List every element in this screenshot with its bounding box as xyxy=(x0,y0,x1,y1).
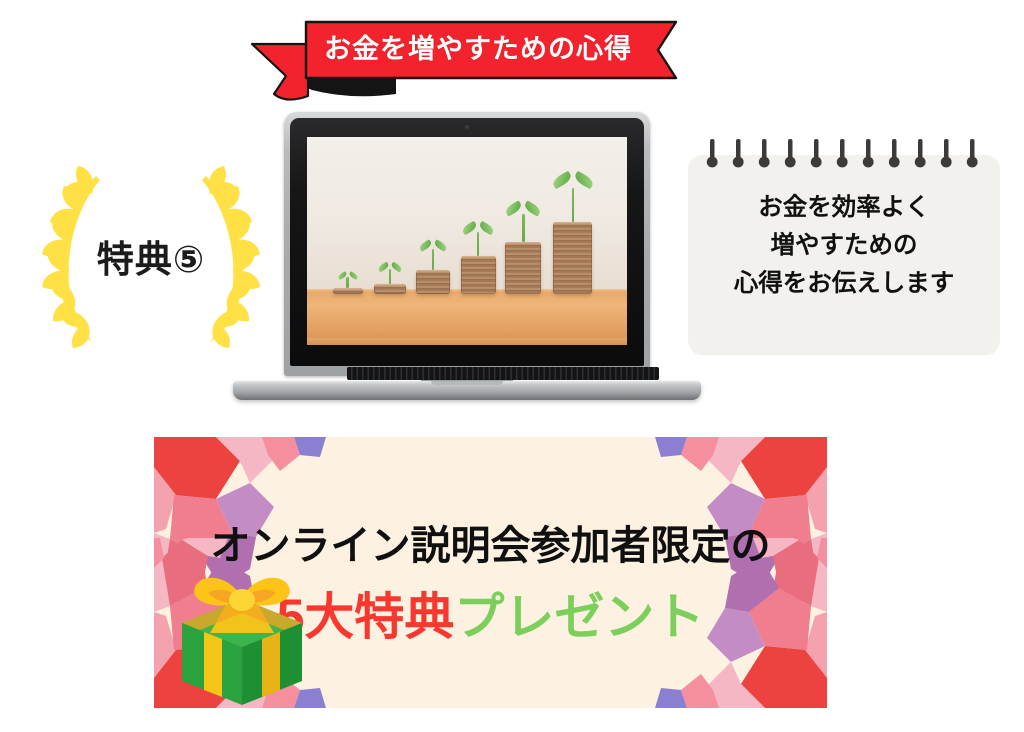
coin-stack-4 xyxy=(461,256,496,294)
ribbon-banner: お金を増やすための心得 xyxy=(246,14,676,98)
coin-stack-6 xyxy=(553,222,592,294)
sprout-1 xyxy=(338,272,358,288)
memo-body: お金を効率よく 増やすための 心得をお伝えします xyxy=(688,189,1000,303)
spiral-pins-icon xyxy=(688,139,1000,171)
laptop-keyboard xyxy=(347,367,659,380)
coin-stack-1 xyxy=(333,288,363,294)
sprout-5 xyxy=(505,202,541,242)
memo-card: お金を効率よく 増やすための 心得をお伝えします xyxy=(688,155,1000,355)
coin-stack-3 xyxy=(416,270,450,294)
memo-line-3: 心得をお伝えします xyxy=(688,265,1000,303)
laptop-lid xyxy=(284,112,650,376)
sprout-2 xyxy=(378,262,402,284)
slide-canvas: お金を増やすための心得 xyxy=(0,0,1024,732)
sprout-3 xyxy=(419,240,447,270)
laptop-bezel xyxy=(290,118,644,366)
memo-line-1: お金を効率よく xyxy=(688,189,1000,227)
sprout-6 xyxy=(552,172,594,222)
webcam-icon xyxy=(465,125,469,129)
coin-stack-2 xyxy=(374,284,406,294)
present-banner-green-text: プレゼント xyxy=(454,589,704,645)
laptop-base xyxy=(233,366,701,400)
memo-line-2: 増やすための xyxy=(688,227,1000,265)
desk-reflection xyxy=(307,338,627,345)
coin-stack-5 xyxy=(505,242,541,294)
coins-growth-photo xyxy=(307,137,627,345)
sprout-4 xyxy=(462,222,494,256)
ribbon-shape xyxy=(246,14,676,98)
laptop-screen xyxy=(307,137,627,345)
memo-binding-pins xyxy=(688,139,1000,171)
photo-wooden-desk xyxy=(307,289,627,345)
laptop-base-front xyxy=(233,381,701,400)
laptop-illustration xyxy=(233,112,701,400)
gift-box-icon xyxy=(166,555,318,707)
present-banner: オンライン説明会参加者限定の 5大特典プレゼント xyxy=(154,437,827,708)
laptop-front-notch xyxy=(431,381,503,385)
